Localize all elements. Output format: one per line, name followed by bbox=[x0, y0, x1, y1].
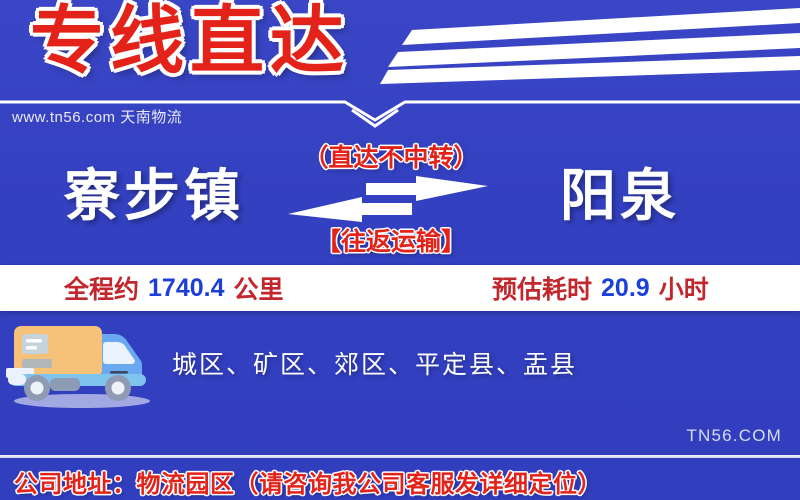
page-title: 专线直达 bbox=[30, 2, 350, 80]
logistics-banner: 专线直达 www.tn56.com 天南物流 寮步镇 阳泉 （直达不中转） 【往… bbox=[0, 0, 800, 500]
watermark-label: TN56.COM bbox=[686, 426, 782, 446]
distance-value: 1740.4 bbox=[139, 274, 233, 303]
distance-metric: 全程约 1740.4 公里 bbox=[64, 265, 284, 311]
roundtrip-tag: 【往返运输】 bbox=[296, 222, 486, 258]
footer-separator bbox=[0, 455, 800, 458]
direct-service-tag: （直达不中转） bbox=[296, 138, 486, 174]
coverage-districts: 城区、矿区、郊区、平定县、盂县 bbox=[172, 345, 577, 381]
duration-metric: 预估耗时 20.9 小时 bbox=[492, 265, 709, 311]
origin-city: 寮步镇 bbox=[64, 168, 244, 224]
duration-label: 预估耗时 bbox=[492, 270, 592, 306]
company-address: 公司地址：物流园区（请咨询我公司客服发详细定位） bbox=[14, 464, 602, 499]
distance-unit: 公里 bbox=[233, 270, 283, 306]
duration-unit: 小时 bbox=[659, 270, 709, 306]
distance-label: 全程约 bbox=[64, 270, 139, 306]
destination-city: 阳泉 bbox=[560, 168, 680, 224]
duration-value: 20.9 bbox=[592, 274, 659, 303]
site-url-label: www.tn56.com 天南物流 bbox=[12, 106, 182, 127]
metrics-band: 全程约 1740.4 公里 预估耗时 20.9 小时 bbox=[0, 265, 800, 311]
